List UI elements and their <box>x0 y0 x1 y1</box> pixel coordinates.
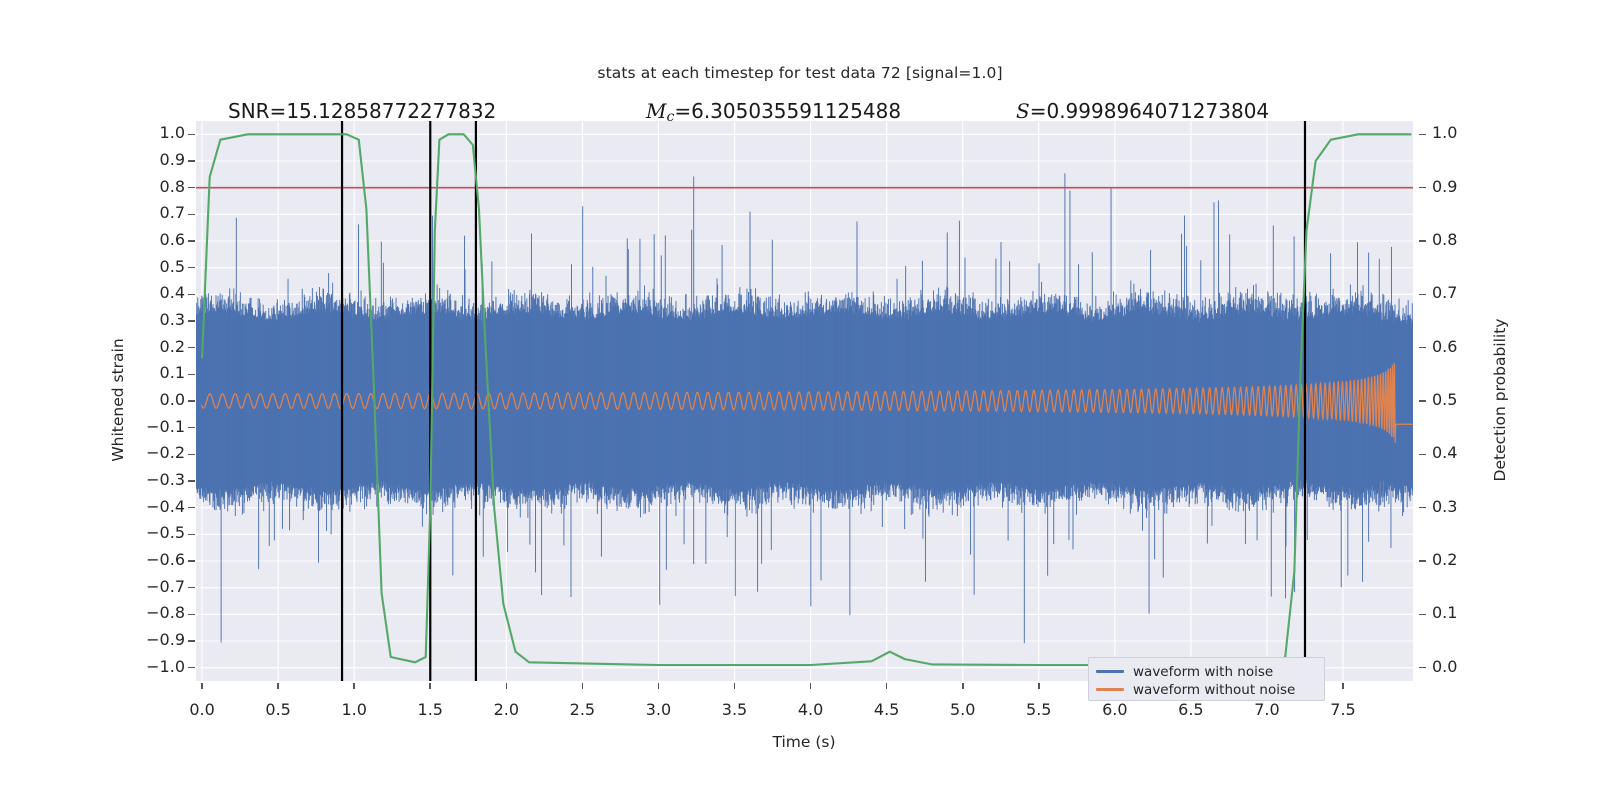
figure-canvas: stats at each timestep for test data 72 … <box>0 0 1600 800</box>
x-tick: 7.0 <box>1254 700 1279 719</box>
legend-item-noise: waveform with noise <box>1096 663 1317 680</box>
y-tick-mark-left <box>188 534 195 536</box>
y-tick-mark-left <box>188 134 195 136</box>
y-tick-mark-right <box>1419 187 1426 189</box>
legend-label-noise: waveform with noise <box>1133 664 1273 680</box>
y-tick-left: 0.8 <box>160 177 185 196</box>
y-tick-mark-left <box>188 267 195 269</box>
y-tick-mark-left <box>188 187 195 189</box>
x-tick-mark <box>810 683 812 689</box>
x-tick: 2.0 <box>494 700 519 719</box>
x-tick: 4.0 <box>798 700 823 719</box>
annotation-snr-label: SNR= <box>228 99 286 123</box>
annotation-mc-equals: = <box>674 99 691 123</box>
y-tick-left: 0.3 <box>160 310 185 329</box>
y-tick-mark-left <box>188 240 195 242</box>
annotation-s-value: 0.9998964071273804 <box>1046 99 1269 123</box>
y-tick-mark-left <box>188 480 195 482</box>
y-tick-left: 0.0 <box>160 390 185 409</box>
x-tick-mark <box>962 683 964 689</box>
y-tick-right: 1.0 <box>1432 123 1457 142</box>
x-tick-mark <box>1038 683 1040 689</box>
x-tick: 6.5 <box>1178 700 1203 719</box>
x-tick: 4.5 <box>874 700 899 719</box>
y-tick-mark-right <box>1419 347 1426 349</box>
y-tick-right: 0.6 <box>1432 337 1457 356</box>
y-tick-left: −0.7 <box>146 577 185 596</box>
y-axis-right-label: Detection probability <box>1491 319 1509 482</box>
y-tick-mark-right <box>1419 454 1426 456</box>
y-tick-right: 0.4 <box>1432 443 1457 462</box>
x-tick-mark <box>201 683 203 689</box>
annotation-snr-value: 15.12858772277832 <box>286 99 496 123</box>
x-tick: 3.5 <box>722 700 747 719</box>
y-tick-mark-right <box>1419 240 1426 242</box>
y-tick-mark-left <box>188 640 195 642</box>
x-tick-mark <box>886 683 888 689</box>
y-tick-mark-left <box>188 320 195 322</box>
y-axis-left-label: Whitened strain <box>109 338 127 461</box>
x-tick-mark <box>353 683 355 689</box>
y-tick-mark-left <box>188 347 195 349</box>
x-axis-label: Time (s) <box>772 733 835 751</box>
x-tick-mark <box>658 683 660 689</box>
annotation-mc-value: 6.305035591125488 <box>691 99 901 123</box>
plot-svg <box>196 121 1413 681</box>
y-tick-left: −0.1 <box>146 417 185 436</box>
y-tick-mark-right <box>1419 560 1426 562</box>
y-tick-mark-left <box>188 427 195 429</box>
legend-swatch-noise <box>1096 670 1124 673</box>
y-tick-left: 0.7 <box>160 203 185 222</box>
x-tick: 1.0 <box>341 700 366 719</box>
y-tick-mark-left <box>188 160 195 162</box>
y-tick-mark-left <box>188 614 195 616</box>
y-tick-mark-right <box>1419 134 1426 136</box>
y-tick-left: −0.2 <box>146 443 185 462</box>
y-tick-left: −0.8 <box>146 603 185 622</box>
x-tick-mark <box>1342 683 1344 689</box>
y-tick-mark-left <box>188 587 195 589</box>
y-tick-right: 0.9 <box>1432 177 1457 196</box>
x-tick: 5.5 <box>1026 700 1051 719</box>
y-tick-left: −0.6 <box>146 550 185 569</box>
y-tick-left: −0.5 <box>146 523 185 542</box>
y-tick-left: 0.1 <box>160 363 185 382</box>
y-tick-left: −1.0 <box>146 657 185 676</box>
page-title: stats at each timestep for test data 72 … <box>0 64 1600 82</box>
y-tick-mark-left <box>188 507 195 509</box>
y-tick-right: 0.3 <box>1432 497 1457 516</box>
y-tick-mark-right <box>1419 507 1426 509</box>
y-tick-left: 1.0 <box>160 123 185 142</box>
x-tick: 0.5 <box>265 700 290 719</box>
y-tick-right: 0.1 <box>1432 603 1457 622</box>
y-tick-right: 0.5 <box>1432 390 1457 409</box>
annotation-mc-symbol: M <box>646 99 666 123</box>
x-tick: 1.5 <box>418 700 443 719</box>
y-tick-left: 0.5 <box>160 257 185 276</box>
x-tick-mark <box>582 683 584 689</box>
plot-area <box>196 121 1413 681</box>
y-tick-left: 0.9 <box>160 150 185 169</box>
y-tick-mark-left <box>188 214 195 216</box>
x-tick: 7.5 <box>1330 700 1355 719</box>
legend-item-signal: waveform without noise <box>1096 681 1317 698</box>
y-tick-left: −0.4 <box>146 497 185 516</box>
x-tick-mark <box>506 683 508 689</box>
annotation-s-equals: = <box>1030 99 1047 123</box>
x-tick: 0.0 <box>189 700 214 719</box>
y-tick-mark-right <box>1419 400 1426 402</box>
x-tick-mark <box>734 683 736 689</box>
x-tick-mark <box>429 683 431 689</box>
annotation-score: S=0.9998964071273804 <box>1016 99 1269 123</box>
y-tick-mark-left <box>188 454 195 456</box>
y-tick-right: 0.7 <box>1432 283 1457 302</box>
y-tick-right: 0.8 <box>1432 230 1457 249</box>
y-tick-left: 0.2 <box>160 337 185 356</box>
y-tick-left: 0.6 <box>160 230 185 249</box>
y-tick-mark-right <box>1419 614 1426 616</box>
x-tick: 2.5 <box>570 700 595 719</box>
annotation-s-symbol: S <box>1016 99 1030 123</box>
y-tick-mark-left <box>188 667 195 669</box>
annotation-snr: SNR=15.12858772277832 <box>228 99 496 123</box>
x-tick: 6.0 <box>1102 700 1127 719</box>
x-tick: 5.0 <box>950 700 975 719</box>
legend-swatch-signal <box>1096 688 1124 691</box>
x-tick-mark <box>277 683 279 689</box>
y-tick-mark-right <box>1419 294 1426 296</box>
legend[interactable]: waveform with noise waveform without noi… <box>1088 657 1325 701</box>
y-tick-left: −0.3 <box>146 470 185 489</box>
y-tick-mark-right <box>1419 667 1426 669</box>
x-tick: 3.0 <box>646 700 671 719</box>
y-tick-right: 0.0 <box>1432 657 1457 676</box>
y-tick-mark-left <box>188 374 195 376</box>
y-tick-mark-left <box>188 400 195 402</box>
y-tick-mark-left <box>188 294 195 296</box>
y-tick-right: 0.2 <box>1432 550 1457 569</box>
legend-label-signal: waveform without noise <box>1133 682 1295 698</box>
y-tick-left: −0.9 <box>146 630 185 649</box>
y-tick-left: 0.4 <box>160 283 185 302</box>
y-tick-mark-left <box>188 560 195 562</box>
